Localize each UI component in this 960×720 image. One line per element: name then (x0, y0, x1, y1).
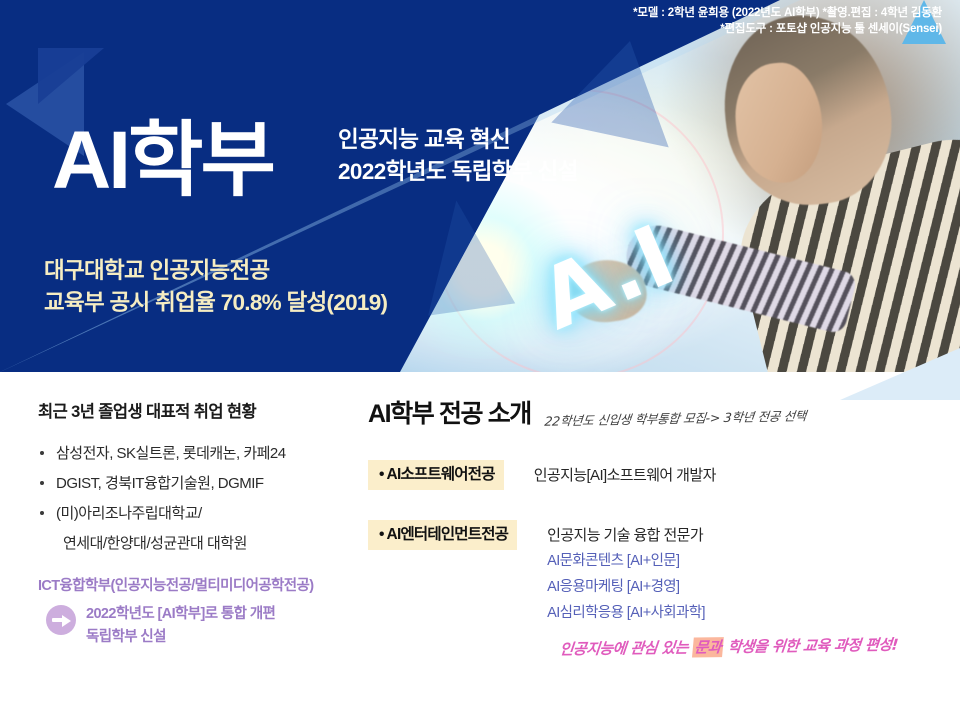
majors-handwritten-note: 22학년도 신입생 학부통합 모집-> 3학년 전공 선택 (544, 405, 808, 429)
list-item-line-1: 삼성전자, SK실트론, 롯데캐논, 카페24 (56, 445, 286, 462)
ict-arrow-line-1: 2022학년도 [AI학부]로 통합 개편 (86, 603, 275, 626)
major-desc-sub: AI문화콘텐츠 [AI+인문] (547, 548, 705, 574)
pink-note-highlight: 문과 (692, 637, 724, 657)
pink-note-before: 인공지능에 관심 있는 (559, 639, 693, 659)
major-desc-entertainment: 인공지능 기술 융합 전문가 AI문화콘텐츠 [AI+인문] AI응용마케팅 [… (547, 520, 705, 626)
majors-heading: AI학부 전공 소개 (368, 394, 531, 430)
major-tag-entertainment: • AI엔터테인먼트전공 (368, 520, 517, 550)
major-row-software: • AI소프트웨어전공 인공지능[AI]소프트웨어 개발자 (368, 460, 938, 490)
ict-arrow-line-2: 독립학부 신설 (86, 626, 275, 649)
bullet-dot-icon (40, 511, 44, 515)
hero-footer-line-2: 교육부 공시 취업율 70.8% 달성(2019) (44, 287, 387, 319)
list-item: 삼성전자, SK실트론, 롯데캐논, 카페24 (38, 439, 348, 469)
bullet-dot-icon (40, 451, 44, 455)
major-desc-sub: AI심리학응용 [AI+사회과학] (547, 600, 705, 626)
list-item: (미)아리조나주립대학교/ 연세대/한양대/성균관대 대학원 (38, 499, 348, 559)
bullet-dot-icon (40, 481, 44, 485)
decorative-triangle-mid-lower (413, 194, 515, 315)
pink-note-after: 학생을 위한 교육 과정 편성! (722, 636, 898, 656)
major-row-entertainment: • AI엔터테인먼트전공 인공지능 기술 융합 전문가 AI문화콘텐츠 [AI+… (368, 520, 938, 626)
list-item: DGIST, 경북IT융합기술원, DGMIF (38, 469, 348, 499)
major-tag-software: • AI소프트웨어전공 (368, 460, 504, 490)
major-desc-main: 인공지능 기술 융합 전문가 (547, 523, 705, 548)
major-desc-sub: AI응용마케팅 [AI+경영] (547, 574, 705, 600)
hero-footer: 대구대학교 인공지능전공 교육부 공시 취업율 70.8% 달성(2019) (44, 255, 387, 319)
list-item-line-1: (미)아리조나주립대학교/ (56, 505, 202, 522)
employment-heading: 최근 3년 졸업생 대표적 취업 현황 (38, 398, 348, 422)
hero-subtitle: 인공지능 교육 혁신 2022학년도 독립학부 신설 (338, 124, 578, 188)
decorative-triangle-left-dark (38, 48, 104, 104)
employment-list: 삼성전자, SK실트론, 롯데캐논, 카페24 DGIST, 경북IT융합기술원… (38, 439, 348, 559)
major-desc-main: 인공지능[AI]소프트웨어 개발자 (534, 463, 716, 488)
credits-block: *모델 : 2학년 윤희용 (2022년도 AI학부) *촬영.편집 : 4학년… (633, 5, 942, 37)
ict-reorganization-block: ICT융합학부(인공지능전공/멀티미디어공학전공) 2022학년도 [AI학부]… (38, 575, 368, 649)
hero-subtitle-line-2: 2022학년도 독립학부 신설 (338, 156, 578, 188)
ict-arrow-text: 2022학년도 [AI학부]로 통합 개편 독립학부 신설 (86, 603, 275, 649)
credit-line-model: *모델 : 2학년 윤희용 (2022년도 AI학부) *촬영.편집 : 4학년… (633, 5, 942, 21)
pink-handwritten-note: 인공지능에 관심 있는 문과 학생을 위한 교육 과정 편성! (559, 634, 899, 660)
ict-arrow-row: 2022학년도 [AI학부]로 통합 개편 독립학부 신설 (38, 603, 368, 649)
majors-section: AI학부 전공 소개 22학년도 신입생 학부통합 모집-> 3학년 전공 선택… (368, 394, 938, 626)
arrow-right-circle-icon (46, 605, 76, 635)
hero-title: AI학부 (52, 118, 273, 204)
hero-subtitle-line-1: 인공지능 교육 혁신 (338, 124, 578, 156)
major-desc-software: 인공지능[AI]소프트웨어 개발자 (534, 460, 716, 490)
list-item-line-1: DGIST, 경북IT융합기술원, DGMIF (56, 475, 264, 492)
hero-footer-line-1: 대구대학교 인공지능전공 (44, 255, 387, 287)
credit-line-tools: *편집도구 : 포토샵 인공지능 툴 센세이(Sensei) (633, 21, 942, 37)
list-item-line-2: 연세대/한양대/성균관대 대학원 (56, 529, 348, 559)
employment-section: 최근 3년 졸업생 대표적 취업 현황 삼성전자, SK실트론, 롯데캐논, 카… (38, 398, 348, 559)
ict-heading: ICT융합학부(인공지능전공/멀티미디어공학전공) (38, 575, 368, 597)
slide-root: A.I *모델 : 2학년 윤희용 (2022년도 AI학부) *촬영.편집 :… (0, 0, 960, 720)
